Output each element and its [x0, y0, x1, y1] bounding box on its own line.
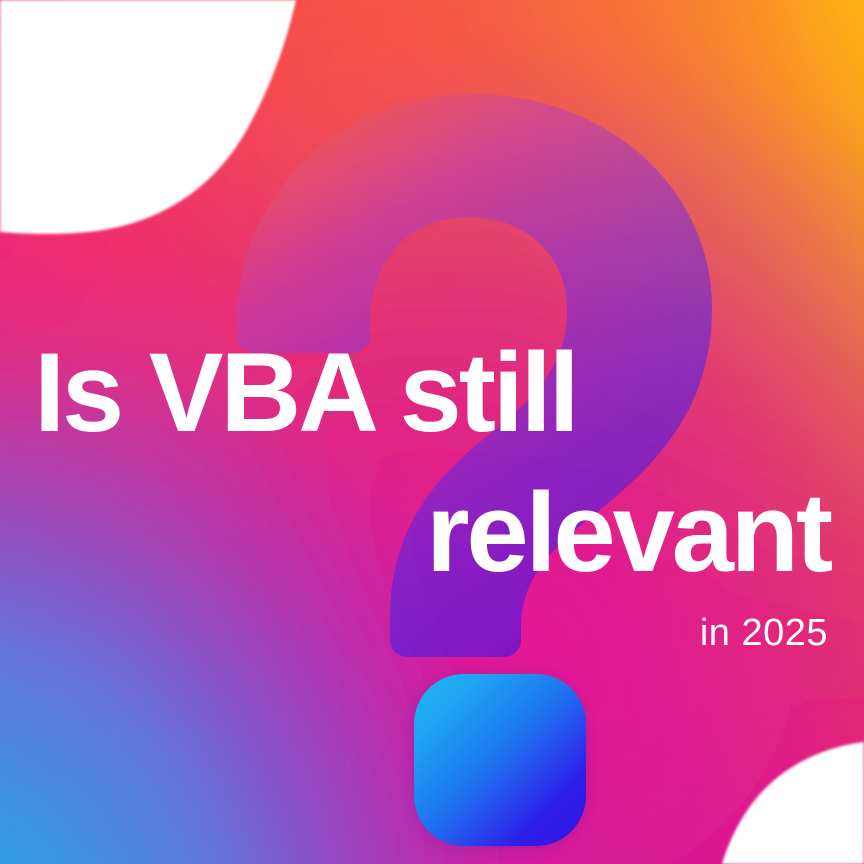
app-icon[interactable] [414, 674, 586, 846]
poster-canvas: Is VBA still relevant in 2025 [0, 0, 864, 864]
